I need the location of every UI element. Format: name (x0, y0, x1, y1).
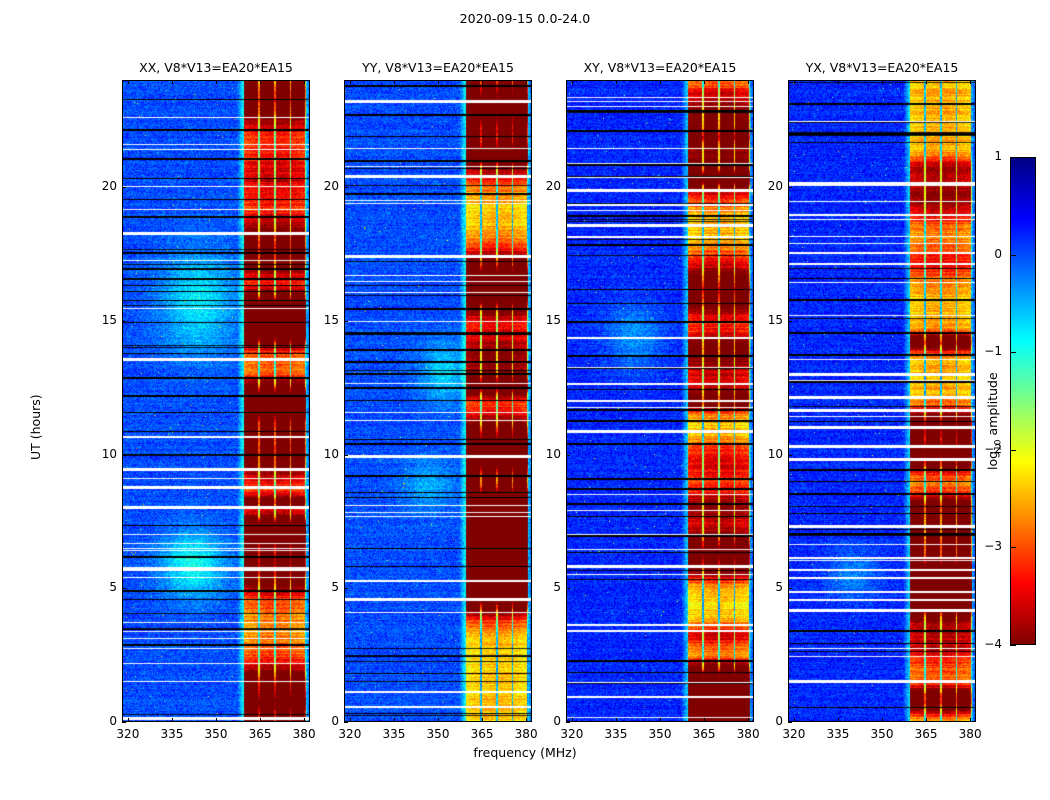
x-tick (438, 718, 439, 722)
y-tick-label: 5 (749, 580, 783, 594)
y-tick (122, 187, 126, 188)
y-tick (566, 187, 570, 188)
x-tick-label: 365 (240, 727, 280, 741)
x-tick (882, 80, 883, 84)
panel-title-yy: YY, V8*V13=EA20*EA15 (344, 60, 532, 75)
x-tick-label: 335 (818, 727, 858, 741)
x-tick-label: 320 (108, 727, 148, 741)
x-tick-label: 365 (684, 727, 724, 741)
colorbar-tick (1010, 157, 1016, 158)
x-tick (572, 80, 573, 84)
x-tick (350, 80, 351, 84)
x-tick (526, 80, 527, 84)
x-tick (616, 718, 617, 722)
x-tick (616, 80, 617, 84)
y-tick-label: 20 (749, 179, 783, 193)
x-tick (970, 718, 971, 722)
figure-suptitle: 2020-09-15 0.0-24.0 (0, 11, 1050, 26)
y-tick (344, 722, 348, 723)
y-tick-label: 5 (305, 580, 339, 594)
x-tick (838, 718, 839, 722)
panel-title-xy: XY, V8*V13=EA20*EA15 (566, 60, 754, 75)
y-tick (566, 321, 570, 322)
y-tick (344, 187, 348, 188)
x-tick-label: 380 (506, 727, 546, 741)
x-tick (704, 80, 705, 84)
waterfall-image-xy (567, 81, 753, 721)
y-tick (566, 455, 570, 456)
spectrogram-panel-yx[interactable] (788, 80, 976, 722)
x-tick (748, 80, 749, 84)
y-tick (122, 321, 126, 322)
x-tick (970, 80, 971, 84)
colorbar-label: log10 amplitude (985, 372, 1004, 470)
x-tick (794, 80, 795, 84)
y-tick (122, 455, 126, 456)
x-tick (394, 718, 395, 722)
y-tick (122, 722, 126, 723)
y-tick (788, 588, 792, 589)
colorbar-tick (1010, 645, 1016, 646)
waterfall-image-xx (123, 81, 309, 721)
y-tick (566, 722, 570, 723)
x-tick-label: 365 (462, 727, 502, 741)
y-tick (122, 588, 126, 589)
colorbar-gradient (1011, 158, 1035, 644)
x-tick (926, 718, 927, 722)
x-tick (394, 80, 395, 84)
y-tick-label: 0 (749, 714, 783, 728)
colorbar-tick (1010, 547, 1016, 548)
x-tick (482, 718, 483, 722)
y-tick-label: 15 (305, 313, 339, 327)
x-tick (660, 718, 661, 722)
colorbar (1010, 157, 1036, 645)
x-tick-label: 350 (640, 727, 680, 741)
colorbar-tick-label: 0 (972, 247, 1002, 261)
y-tick (344, 321, 348, 322)
x-tick-label: 380 (950, 727, 990, 741)
x-tick (260, 718, 261, 722)
spectrogram-panel-xx[interactable] (122, 80, 310, 722)
waterfall-image-yy (345, 81, 531, 721)
x-tick-label: 350 (862, 727, 902, 741)
x-tick-label: 365 (906, 727, 946, 741)
x-tick (572, 718, 573, 722)
colorbar-tick-label: −1 (972, 344, 1002, 358)
y-tick-label: 20 (527, 179, 561, 193)
y-tick (788, 187, 792, 188)
x-tick (304, 80, 305, 84)
colorbar-tick (1010, 255, 1016, 256)
x-tick (660, 80, 661, 84)
colorbar-tick (1010, 352, 1016, 353)
y-tick (788, 321, 792, 322)
colorbar-tick-label: −4 (972, 637, 1002, 651)
y-tick-label: 10 (83, 447, 117, 461)
x-tick (216, 718, 217, 722)
y-tick (566, 588, 570, 589)
panel-title-yx: YX, V8*V13=EA20*EA15 (788, 60, 976, 75)
x-tick (926, 80, 927, 84)
colorbar-tick (1010, 450, 1016, 451)
x-tick (482, 80, 483, 84)
y-tick-label: 10 (527, 447, 561, 461)
x-tick-label: 350 (418, 727, 458, 741)
y-tick (344, 455, 348, 456)
x-tick-label: 320 (552, 727, 592, 741)
y-tick-label: 15 (83, 313, 117, 327)
y-tick-label: 0 (83, 714, 117, 728)
y-tick-label: 10 (749, 447, 783, 461)
y-axis-label: UT (hours) (28, 394, 43, 460)
y-tick-label: 10 (305, 447, 339, 461)
y-tick (788, 455, 792, 456)
x-tick (704, 718, 705, 722)
panel-title-xx: XX, V8*V13=EA20*EA15 (122, 60, 310, 75)
spectrogram-panel-yy[interactable] (344, 80, 532, 722)
x-tick-label: 335 (374, 727, 414, 741)
x-tick (438, 80, 439, 84)
x-tick-label: 320 (330, 727, 370, 741)
y-tick-label: 0 (527, 714, 561, 728)
x-tick (172, 80, 173, 84)
x-axis-label: frequency (MHz) (0, 745, 1050, 760)
x-tick (216, 80, 217, 84)
x-tick (838, 80, 839, 84)
x-tick-label: 335 (596, 727, 636, 741)
y-tick-label: 15 (749, 313, 783, 327)
x-tick (794, 718, 795, 722)
y-tick (344, 588, 348, 589)
y-tick-label: 15 (527, 313, 561, 327)
x-tick (260, 80, 261, 84)
x-tick (128, 80, 129, 84)
colorbar-tick-label: 1 (972, 149, 1002, 163)
x-tick-label: 380 (728, 727, 768, 741)
x-tick (882, 718, 883, 722)
spectrogram-panel-xy[interactable] (566, 80, 754, 722)
x-tick-label: 350 (196, 727, 236, 741)
x-tick (128, 718, 129, 722)
x-tick-label: 320 (774, 727, 814, 741)
y-tick (788, 722, 792, 723)
y-tick-label: 5 (527, 580, 561, 594)
y-tick-label: 20 (305, 179, 339, 193)
y-tick-label: 20 (83, 179, 117, 193)
x-tick (350, 718, 351, 722)
x-tick (172, 718, 173, 722)
x-tick-label: 380 (284, 727, 324, 741)
y-tick-label: 0 (305, 714, 339, 728)
waterfall-image-yx (789, 81, 975, 721)
y-tick-label: 5 (83, 580, 117, 594)
colorbar-tick-label: −3 (972, 539, 1002, 553)
x-tick-label: 335 (152, 727, 192, 741)
